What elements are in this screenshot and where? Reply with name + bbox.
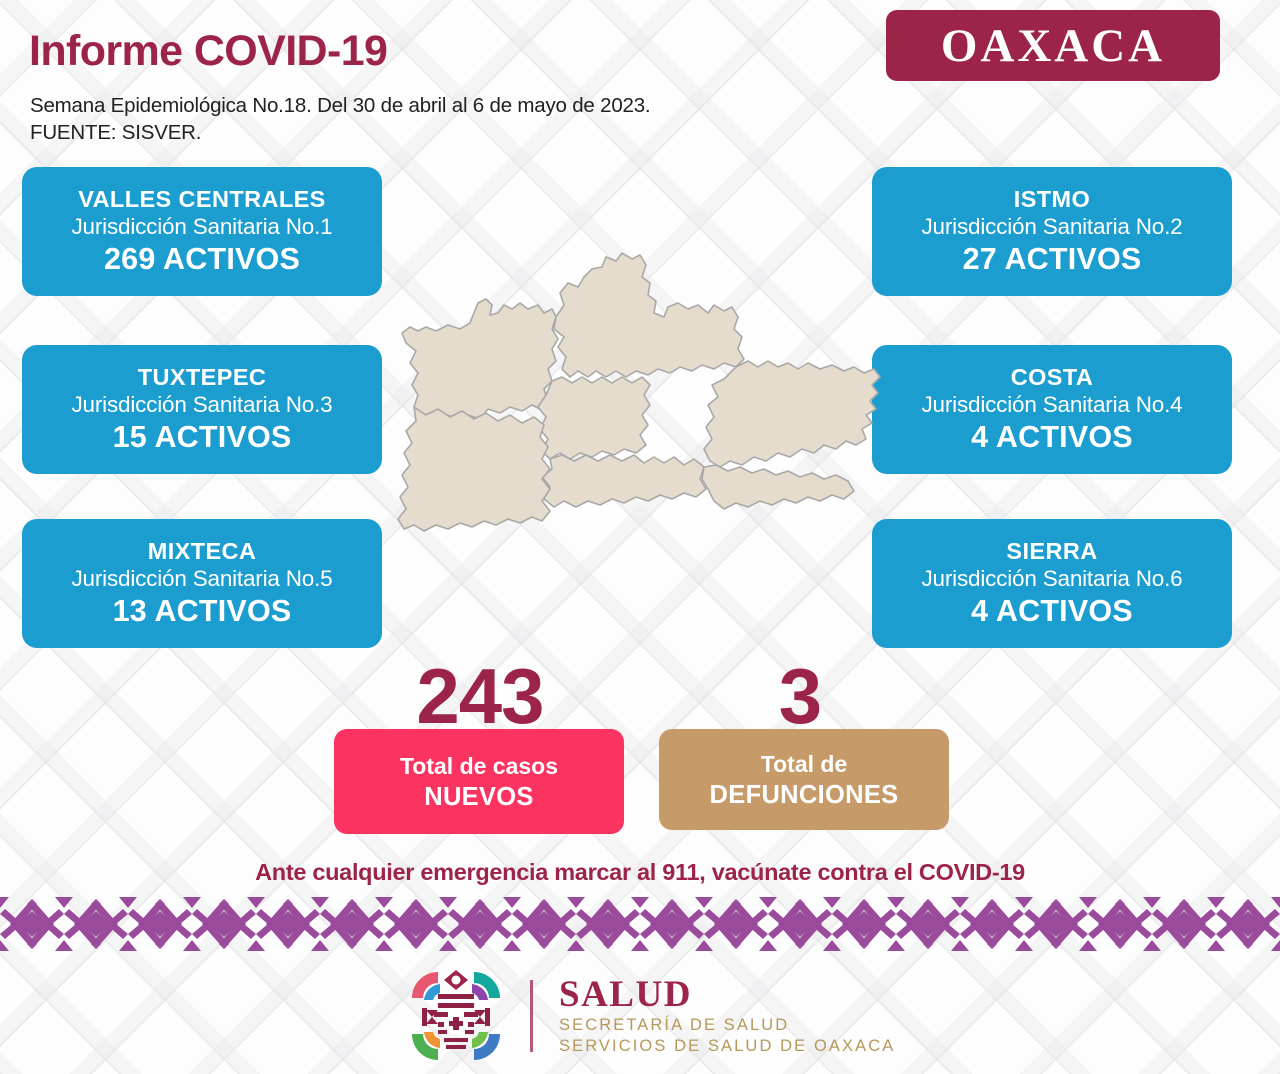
jurisdiction-active-cases: 15 ACTIVOS bbox=[113, 419, 292, 456]
jurisdiction-card-istmo: ISTMO Jurisdicción Sanitaria No.2 27 ACT… bbox=[872, 167, 1232, 296]
jurisdiction-name: ISTMO bbox=[1014, 186, 1090, 213]
jurisdiction-number: Jurisdicción Sanitaria No.2 bbox=[922, 213, 1183, 241]
oaxacan-pattern-band bbox=[0, 897, 1280, 951]
logo-divider bbox=[530, 980, 533, 1052]
jurisdiction-number: Jurisdicción Sanitaria No.3 bbox=[72, 391, 333, 419]
state-badge-label: OAXACA bbox=[941, 19, 1165, 73]
total-deaths-box: Total de DEFUNCIONES bbox=[659, 729, 949, 830]
logo-subtitle-1: SECRETARÍA DE SALUD bbox=[559, 1015, 895, 1036]
jurisdiction-active-cases: 27 ACTIVOS bbox=[963, 241, 1142, 278]
jurisdiction-number: Jurisdicción Sanitaria No.4 bbox=[922, 391, 1183, 419]
jurisdiction-card-tuxtepec: TUXTEPEC Jurisdicción Sanitaria No.3 15 … bbox=[22, 345, 382, 474]
map-region-tuxtepec bbox=[554, 253, 744, 377]
total-new-cases-label-line2: NUEVOS bbox=[424, 781, 534, 813]
map-region-costa bbox=[398, 407, 550, 531]
jurisdiction-number: Jurisdicción Sanitaria No.5 bbox=[72, 565, 333, 593]
subtitle-line-1: Semana Epidemiológica No.18. Del 30 de a… bbox=[30, 92, 650, 119]
jurisdiction-active-cases: 4 ACTIVOS bbox=[971, 593, 1133, 630]
state-badge: OAXACA bbox=[886, 10, 1220, 81]
logo-title: SALUD bbox=[559, 975, 895, 1015]
jurisdiction-active-cases: 13 ACTIVOS bbox=[113, 593, 292, 630]
jurisdiction-active-cases: 269 ACTIVOS bbox=[104, 241, 300, 278]
jurisdiction-card-sierra: SIERRA Jurisdicción Sanitaria No.6 4 ACT… bbox=[872, 519, 1232, 648]
map-region-valles-centrales bbox=[538, 377, 650, 459]
jurisdiction-number: Jurisdicción Sanitaria No.1 bbox=[72, 213, 333, 241]
jurisdiction-name: TUXTEPEC bbox=[138, 364, 267, 391]
jurisdiction-name: VALLES CENTRALES bbox=[78, 186, 326, 213]
map-region-istmo bbox=[704, 361, 880, 467]
oaxaca-state-map bbox=[392, 243, 884, 555]
jurisdiction-card-valles-centrales: VALLES CENTRALES Jurisdicción Sanitaria … bbox=[22, 167, 382, 296]
subtitle-line-2: FUENTE: SISVER. bbox=[30, 119, 650, 146]
epidemiological-week-subtitle: Semana Epidemiológica No.18. Del 30 de a… bbox=[30, 92, 650, 146]
jurisdiction-card-mixteca: MIXTECA Jurisdicción Sanitaria No.5 13 A… bbox=[22, 519, 382, 648]
total-new-cases-box: Total de casos NUEVOS bbox=[334, 729, 624, 834]
jurisdiction-name: SIERRA bbox=[1006, 538, 1097, 565]
jurisdiction-name: MIXTECA bbox=[148, 538, 257, 565]
footer-logo: SALUD SECRETARÍA DE SALUD SERVICIOS DE S… bbox=[404, 963, 904, 1069]
page-title: Informe COVID-19 bbox=[29, 27, 387, 76]
total-deaths-label-line1: Total de bbox=[761, 749, 847, 779]
logo-subtitle-2: SERVICIOS DE SALUD DE OAXACA bbox=[559, 1036, 895, 1057]
emergency-notice: Ante cualquier emergencia marcar al 911,… bbox=[0, 859, 1280, 886]
jurisdiction-number: Jurisdicción Sanitaria No.6 bbox=[922, 565, 1183, 593]
map-region-costa-east bbox=[702, 465, 854, 509]
map-region-mixteca bbox=[402, 299, 558, 421]
salud-logo-icon bbox=[404, 964, 508, 1068]
map-region-sierra bbox=[542, 455, 706, 507]
jurisdiction-name: COSTA bbox=[1011, 364, 1094, 391]
jurisdiction-card-costa: COSTA Jurisdicción Sanitaria No.4 4 ACTI… bbox=[872, 345, 1232, 474]
jurisdiction-active-cases: 4 ACTIVOS bbox=[971, 419, 1133, 456]
total-deaths-label-line2: DEFUNCIONES bbox=[710, 779, 899, 811]
total-new-cases-label-line1: Total de casos bbox=[400, 751, 558, 781]
